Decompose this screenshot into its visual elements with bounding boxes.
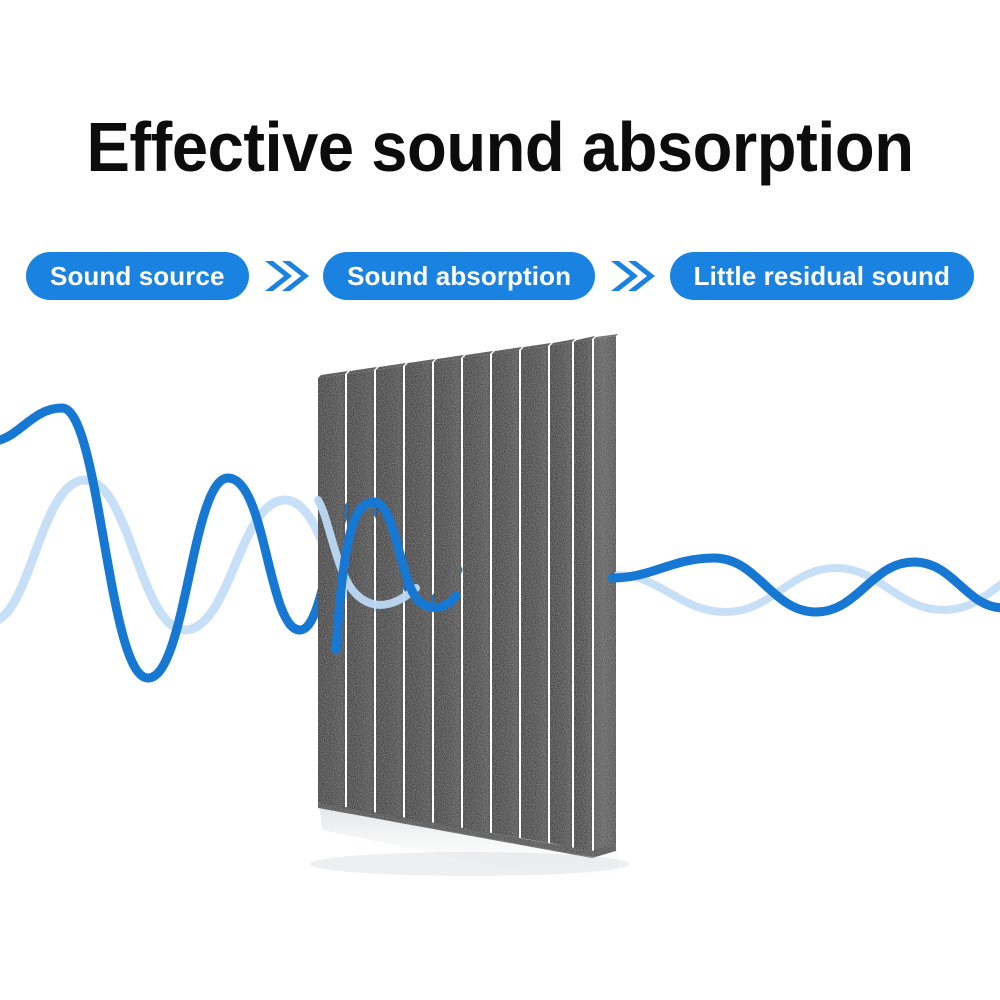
badge-label: Little residual sound xyxy=(694,261,950,292)
sound-flow-steps: Sound source Sound absorption Little res… xyxy=(26,251,974,301)
double-chevron-right-icon xyxy=(609,259,655,293)
residual-soundwave-layer xyxy=(0,330,1000,930)
badge-label: Sound source xyxy=(50,261,225,292)
primary-residual-wave xyxy=(612,558,1000,612)
badge-label: Sound absorption xyxy=(347,261,571,292)
badge-little-residual-sound[interactable]: Little residual sound xyxy=(670,252,974,300)
badge-sound-absorption[interactable]: Sound absorption xyxy=(323,252,595,300)
badge-sound-source[interactable]: Sound source xyxy=(26,252,249,300)
page-title: Effective sound absorption xyxy=(35,108,965,186)
product-feature-banner: Effective sound absorption Sound source … xyxy=(0,0,1000,1000)
soundwave-foam-illustration xyxy=(0,330,1000,930)
double-chevron-right-icon xyxy=(263,259,309,293)
